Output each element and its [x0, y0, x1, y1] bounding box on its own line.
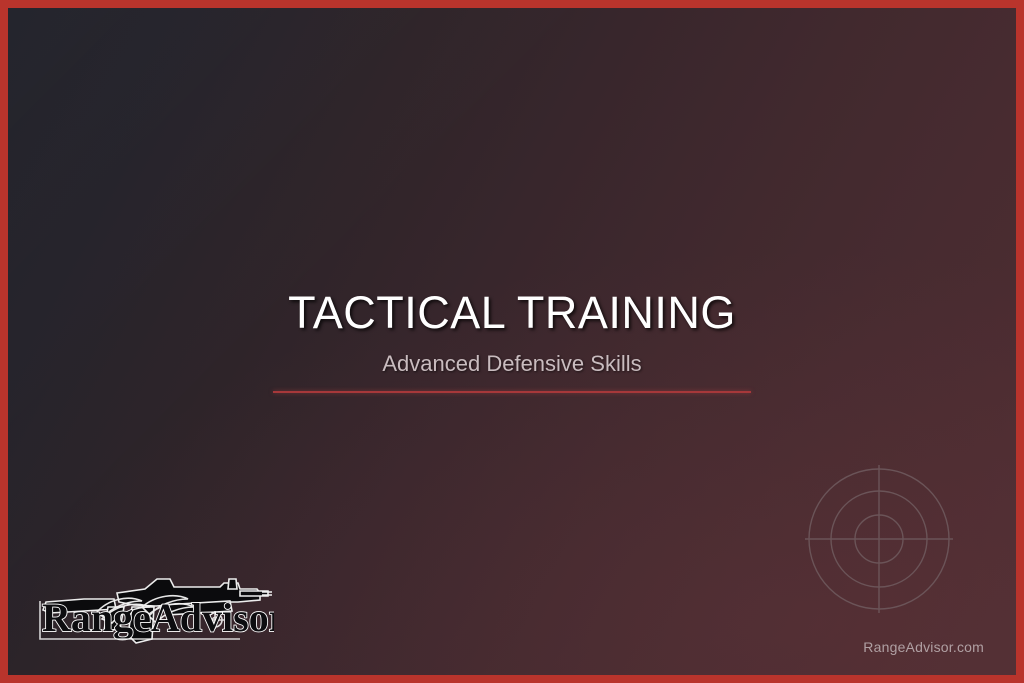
slide-canvas: TACTICAL TRAINING Advanced Defensive Ski… [8, 8, 1016, 675]
page-title: TACTICAL TRAINING [8, 287, 1016, 339]
brand-wordmark: RangeAdvisor [42, 595, 274, 640]
presentation-slide: TACTICAL TRAINING Advanced Defensive Ski… [0, 0, 1024, 683]
crosshair-target-icon [805, 465, 953, 613]
title-divider [273, 391, 751, 393]
title-block: TACTICAL TRAINING Advanced Defensive Ski… [8, 287, 1016, 393]
crosshair-svg [805, 465, 953, 613]
brand-logo: RangeAdvisor [24, 571, 274, 657]
page-subtitle: Advanced Defensive Skills [8, 351, 1016, 377]
footer-url: RangeAdvisor.com [863, 639, 984, 655]
brand-logo-svg: RangeAdvisor [24, 571, 274, 657]
